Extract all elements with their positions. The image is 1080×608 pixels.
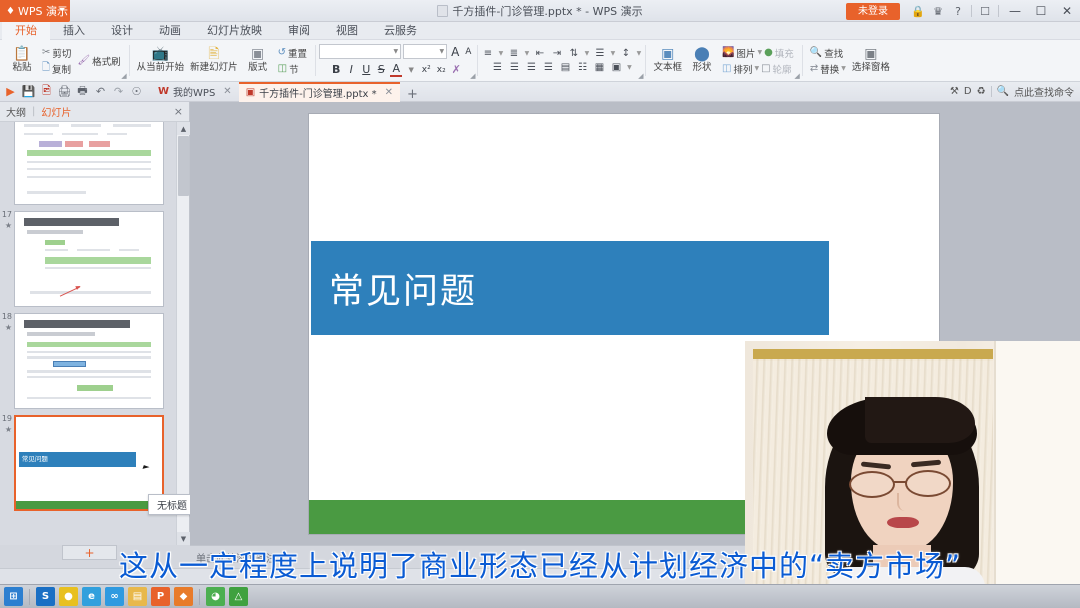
paragraph-dialog-launcher[interactable]: ◢ (638, 72, 643, 80)
chevron-down-icon[interactable]: ▼ (498, 50, 503, 57)
wps-menu-icon[interactable]: ▶ (2, 83, 19, 100)
divider (991, 86, 992, 97)
arrange-label: 排列 (733, 62, 752, 76)
tab-insert[interactable]: 插入 (50, 22, 98, 40)
person-nose (897, 493, 909, 511)
from-current-label: 从当前开始 (137, 63, 185, 74)
internet-explorer-icon[interactable]: e (82, 587, 101, 606)
font-dialog-launcher[interactable]: ◢ (470, 72, 475, 80)
doc-tab-my-wps-label: 我的WPS (173, 84, 215, 99)
copy-button[interactable]: 🗋 复制 (39, 62, 74, 76)
from-current-slide-button[interactable]: 📺 从当前开始 (134, 47, 188, 74)
bold-button[interactable]: B (330, 63, 342, 76)
shape-label: 形状 (692, 63, 711, 74)
decor (62, 133, 98, 136)
shape-button[interactable]: ⬤ 形状 (685, 47, 719, 74)
decor (27, 168, 151, 170)
group-icon[interactable]: ▣ (610, 62, 623, 73)
shrink-font-button[interactable]: A (463, 47, 473, 57)
star-icon: ★ (0, 426, 12, 434)
chevron-down-icon[interactable]: ▼ (757, 49, 762, 56)
new-tab-button[interactable]: + (400, 87, 425, 102)
star-icon: ★ (0, 222, 12, 230)
superscript-button[interactable]: x² (420, 65, 432, 75)
thumbnail-title-bar: 常见问题 (19, 452, 136, 467)
search-icon[interactable]: 🔍 (997, 86, 1009, 97)
tab-design[interactable]: 设计 (98, 22, 146, 40)
font-name-select[interactable]: ▼ (319, 44, 401, 59)
backup-icon[interactable]: ♻ (977, 86, 986, 97)
tab-view[interactable]: 视图 (323, 22, 371, 40)
scissors-icon: ✂ (42, 47, 50, 58)
thumbnail-slide-18[interactable] (14, 313, 164, 409)
paintbrush-icon: 🖌 (77, 55, 90, 66)
thumbnail-slide-16[interactable] (14, 122, 164, 205)
text-box-label: 文本框 (653, 63, 682, 74)
list-item[interactable]: 16 (0, 122, 176, 208)
scroll-up-button[interactable]: ▲ (177, 122, 190, 135)
chevron-down-icon[interactable] (59, 8, 65, 11)
touch-mode-icon[interactable]: ☉ (128, 83, 145, 100)
wps-logo-icon: ♦ (6, 6, 15, 17)
ribbon-group-clipboard: 📋 粘贴 ✂ 剪切 🗋 复制 🖌 格式刷 ◢ (0, 40, 129, 81)
person-shirt (829, 567, 985, 584)
doc-tab-active[interactable]: ▣ 千方插件-门诊管理.pptx * ✕ (239, 82, 400, 102)
ribbon-group-paragraph: ≡▼ ≣▼ ⇤ ⇥ ⇅▼ ☰▼ ↕▼ ☰ ☰ ☰ ☰ ▤ ☷ ▦ ▣ ▼ ◢ (477, 40, 645, 81)
menu-tab-list: 开始 插入 设计 动画 幻灯片放映 审阅 视图 云服务 (0, 22, 1080, 40)
close-icon[interactable]: ✕ (385, 87, 393, 98)
close-panel-icon[interactable]: × (174, 105, 183, 118)
text-box-icon: ▣ (661, 47, 674, 62)
thumbnail-scrollbar[interactable]: ▲ ▼ (176, 122, 189, 545)
distribute-icon[interactable]: ▤ (559, 62, 572, 73)
decor (27, 351, 151, 353)
file-explorer-icon[interactable]: ▤ (128, 587, 147, 606)
projector-screen-icon: 📺 (152, 47, 169, 62)
picture-label: 图片 (736, 46, 755, 60)
font-row-bottom: B I U S A ▼ x² x₂ ✗ (330, 62, 462, 77)
clear-format-icon[interactable]: ✗ (450, 63, 462, 76)
sogou-input-icon[interactable]: S (36, 587, 55, 606)
format-painter-label: 格式刷 (92, 54, 121, 68)
thumbnail-number: 18 (2, 312, 12, 321)
decor (45, 249, 69, 252)
person-fringe-side (865, 397, 975, 443)
room-wall (994, 341, 1080, 584)
italic-button[interactable]: I (345, 63, 357, 76)
paste-label: 粘贴 (12, 63, 31, 74)
underline-button[interactable]: U (360, 63, 372, 76)
restore-pane-icon[interactable]: ☐ (975, 0, 995, 22)
wps-app-badge-label: WPS 演示 (18, 3, 68, 19)
find-label: 查找 (824, 46, 843, 60)
subscript-button[interactable]: x₂ (435, 65, 447, 75)
grow-font-button[interactable]: A (449, 45, 461, 59)
fill-label: 填充 (775, 46, 794, 60)
layout-label: 版式 (248, 63, 267, 74)
list-item[interactable]: 18 ★ (0, 310, 176, 412)
thumbnail-number: 19 (2, 414, 12, 423)
ribbon-toolbar: 📋 粘贴 ✂ 剪切 🗋 复制 🖌 格式刷 ◢ 📺 从当前开始 (0, 40, 1080, 82)
tab-animation[interactable]: 动画 (146, 22, 194, 40)
glasses-bridge (894, 481, 907, 483)
d-icon[interactable]: D (964, 86, 972, 97)
thumbnail-meta: 18 ★ (0, 313, 14, 332)
thumbnail-number: 17 (2, 210, 12, 219)
slide-title-placeholder[interactable]: 常见问题 (311, 241, 829, 335)
wps-logo-icon: W (158, 86, 169, 97)
scroll-down-button[interactable]: ▼ (177, 532, 190, 545)
replace-button[interactable]: ⇄ 替换 ▼ (807, 62, 849, 76)
hat-icon[interactable]: ♛ (928, 0, 948, 22)
wps-app-badge[interactable]: ♦ WPS 演示 (0, 0, 70, 22)
ribbon-group-slides: 📺 从当前开始 🖹 新建幻灯片 ▣ 版式 ↺ 重置 ◫ 节 (129, 40, 315, 81)
clipboard-icon: 📋 (13, 47, 30, 62)
title-bar: ♦ WPS 演示 千方插件-门诊管理.pptx * - WPS 演示 未登录 🔒… (0, 0, 1080, 22)
editing-small-commands: 🔍 查找 ⇄ 替换 ▼ (807, 46, 849, 76)
divider (971, 5, 972, 17)
ppt-file-icon: ▣ (246, 87, 255, 98)
glasses-lens-right (905, 470, 951, 497)
decor (27, 376, 151, 378)
quick-access-toolbar: ▶ 💾 🖻 🖨 🖶 ↶ ↷ ☉ (0, 83, 145, 100)
align-right-icon[interactable]: ☰ (525, 62, 538, 73)
thunder-app-icon[interactable]: ● (59, 587, 78, 606)
slide-title-text: 常见问题 (311, 263, 477, 314)
selection-pane-label: 选择窗格 (852, 63, 890, 74)
thumbnail-slide-17[interactable] (14, 211, 164, 307)
new-slide-icon: 🖹 (208, 47, 219, 62)
decor (27, 342, 151, 347)
document-title-label: 千方插件-门诊管理.pptx * - WPS 演示 (452, 3, 642, 19)
align-center-icon[interactable]: ☰ (508, 62, 521, 73)
format-painter-wrap: 🖌 格式刷 (74, 54, 123, 68)
document-tab-list: W 我的WPS ✕ ▣ 千方插件-门诊管理.pptx * ✕ + (151, 82, 425, 102)
doc-tab-active-label: 千方插件-门诊管理.pptx * (259, 85, 377, 100)
chevron-down-icon: ▼ (439, 48, 444, 55)
chevron-down-icon[interactable]: ▼ (754, 65, 759, 72)
reset-label: 重置 (288, 46, 307, 60)
fill-icon: ● (764, 47, 773, 58)
undo-icon[interactable]: ↶ (92, 83, 109, 100)
divider (998, 5, 999, 17)
chevron-down-icon[interactable]: ▼ (524, 50, 529, 57)
decor (27, 150, 151, 156)
decor (27, 332, 95, 336)
layout-icon: ▣ (251, 47, 264, 62)
chevron-down-icon[interactable]: ▼ (610, 50, 615, 57)
browser-app-icon[interactable]: ◆ (174, 587, 193, 606)
divider: | (32, 106, 35, 117)
thumbnail-meta: 17 ★ (0, 211, 14, 230)
decor (71, 124, 101, 127)
command-search-input[interactable]: 点此查找命令 (1014, 84, 1074, 99)
justify-icon[interactable]: ☰ (542, 62, 555, 73)
picture-icon: 🌄 (722, 47, 734, 58)
decor (65, 141, 83, 147)
section-button[interactable]: ◫ 节 (275, 62, 310, 76)
decor (89, 141, 110, 147)
align-left-icon[interactable]: ☰ (491, 62, 504, 73)
webcam-overlay (745, 341, 1080, 584)
thumbnail-slide-19-selected[interactable]: 常见问题 (14, 415, 164, 511)
new-slide-label: 新建幻灯片 (190, 63, 238, 74)
selection-pane-button[interactable]: ▣ 选择窗格 (849, 47, 893, 74)
chevron-down-icon[interactable]: ▼ (584, 50, 589, 57)
list-item[interactable]: 17 ★ (0, 208, 176, 310)
align-text-icon[interactable]: ↕ (619, 48, 632, 59)
ribbon-group-editing: 🔍 查找 ⇄ 替换 ▼ ▣ 选择窗格 (802, 40, 898, 81)
login-button[interactable]: 未登录 (846, 3, 900, 20)
thumbnail-list[interactable]: 16 17 (0, 122, 176, 545)
scrollbar-thumb[interactable] (178, 136, 189, 196)
selection-pane-icon: ▣ (864, 47, 877, 62)
decor (45, 257, 152, 264)
bullets-icon[interactable]: ≡ (481, 48, 494, 59)
tab-start[interactable]: 开始 (2, 22, 50, 40)
maximize-button[interactable]: ☐ (1028, 0, 1054, 22)
drawing-dialog-launcher[interactable]: ◢ (794, 72, 799, 80)
tab-slideshow[interactable]: 幻灯片放映 (194, 22, 275, 40)
text-direction-icon[interactable]: ☰ (593, 48, 606, 59)
arrange-icon: ◫ (722, 63, 731, 74)
minimize-button[interactable]: — (1002, 0, 1028, 22)
layout-button[interactable]: ▣ 版式 (241, 47, 275, 74)
drawing-small-commands: 🌄 图片 ▼ ● 填充 ◫ 排列 ▼ □ 轮廓 (719, 46, 797, 76)
thumbnail-meta: 19 ★ (0, 415, 14, 434)
decrease-indent-icon[interactable]: ⇤ (533, 48, 546, 59)
reset-icon: ↺ (278, 47, 286, 58)
numbering-icon[interactable]: ≣ (507, 48, 520, 59)
decor (45, 267, 152, 270)
find-button[interactable]: 🔍 查找 (807, 46, 849, 60)
baidu-netdisk-icon[interactable]: ∞ (105, 587, 124, 606)
search-icon: 🔍 (810, 47, 822, 58)
doc-tab-my-wps[interactable]: W 我的WPS ✕ (151, 82, 239, 102)
slide-thumbnail-panel: 大纲 | 幻灯片 × 16 (0, 102, 190, 545)
text-box-button[interactable]: ▣ 文本框 (650, 47, 685, 74)
ribbon-group-drawing: ▣ 文本框 ⬤ 形状 🌄 图片 ▼ ● 填充 ◫ 排列 ▼ □ 轮廓 ◢ (645, 40, 801, 81)
tab-cloud-service[interactable]: 云服务 (371, 22, 430, 40)
copy-label: 复制 (52, 62, 71, 76)
lock-icon[interactable]: 🔒 (908, 0, 928, 22)
windows-taskbar: ⊞ S ● e ∞ ▤ P ◆ ◕ △ (0, 584, 1080, 608)
replace-icon: ⇄ (810, 63, 818, 74)
divider (199, 589, 200, 605)
paragraph-row-top: ≡▼ ≣▼ ⇤ ⇥ ⇅▼ ☰▼ ↕▼ (481, 48, 641, 59)
outline-icon: □ (761, 63, 770, 74)
quickbar-right-tools: ⚒ D ♻ 🔍 点此查找命令 (950, 84, 1080, 99)
chevron-down-icon[interactable]: ▼ (627, 64, 632, 71)
chevron-down-icon[interactable]: ▼ (405, 66, 417, 74)
glasses-lens-left (849, 471, 895, 498)
decor (27, 191, 86, 194)
picture-button[interactable]: 🌄 图片 ▼ ● 填充 (719, 46, 797, 60)
green-app-icon[interactable]: △ (229, 587, 248, 606)
replace-label: 替换 (820, 62, 839, 76)
wechat-icon[interactable]: ◕ (206, 587, 225, 606)
new-slide-button[interactable]: 🖹 新建幻灯片 (187, 47, 241, 74)
clipboard-small-commands: ✂ 剪切 🗋 复制 (39, 46, 74, 76)
decor (27, 397, 151, 399)
quick-access-and-tab-bar: ▶ 💾 🖻 🖨 🖶 ↶ ↷ ☉ W 我的WPS ✕ ▣ 千方插件-门诊管理.pp… (0, 82, 1080, 102)
cut-button[interactable]: ✂ 剪切 (39, 46, 74, 60)
chevron-down-icon[interactable]: ▼ (841, 65, 846, 72)
decor (77, 385, 113, 391)
close-button[interactable]: ✕ (1054, 0, 1080, 22)
decor (107, 133, 128, 136)
redo-icon[interactable]: ↷ (110, 83, 127, 100)
line-spacing-icon[interactable]: ⇅ (567, 48, 580, 59)
add-slide-button[interactable]: + (62, 545, 117, 560)
print-icon[interactable]: 🖨 (56, 83, 73, 100)
slides-small-commands: ↺ 重置 ◫ 节 (275, 46, 310, 76)
decor (27, 370, 151, 372)
panel-tab-outline[interactable]: 大纲 (6, 104, 26, 119)
decor (27, 230, 83, 234)
arrange-button[interactable]: ◫ 排列 ▼ □ 轮廓 (719, 62, 797, 76)
shapes-icon: ⬤ (694, 47, 710, 62)
font-size-select[interactable]: ▼ (403, 44, 447, 59)
decor (24, 320, 131, 328)
decor (24, 133, 54, 136)
divider (29, 589, 30, 605)
clipboard-dialog-launcher[interactable]: ◢ (121, 72, 126, 80)
ppt-file-icon (437, 5, 448, 17)
export-pdf-icon[interactable]: 🖻 (38, 83, 55, 100)
decor (27, 161, 151, 163)
tab-review[interactable]: 审阅 (275, 22, 323, 40)
increase-indent-icon[interactable]: ⇥ (550, 48, 563, 59)
smartart-icon[interactable]: ▦ (593, 62, 606, 73)
person-lips (887, 517, 919, 528)
menu-bar: 开始 插入 设计 动画 幻灯片放映 审阅 视图 云服务 (0, 22, 1080, 40)
chevron-down-icon[interactable]: ▼ (636, 50, 641, 57)
font-color-button[interactable]: A (390, 62, 402, 77)
decor (77, 249, 110, 252)
print-preview-icon[interactable]: 🖶 (74, 83, 91, 100)
paragraph-row-bottom: ☰ ☰ ☰ ☰ ▤ ☷ ▦ ▣ ▼ (491, 62, 632, 73)
star-icon: ★ (0, 324, 12, 332)
section-icon: ◫ (278, 63, 287, 74)
decor (113, 124, 151, 127)
strikethrough-button[interactable]: S (375, 63, 387, 76)
titlebar-right-controls: 未登录 🔒 ♛ ? ☐ — ☐ ✕ (846, 0, 1080, 22)
help-icon[interactable]: ? (948, 0, 968, 22)
section-label: 节 (289, 62, 299, 76)
decor (24, 218, 119, 226)
thumbnail-tooltip: 无标题 (148, 494, 196, 515)
close-icon[interactable]: ✕ (223, 86, 231, 97)
thumbnail-title-text: 常见问题 (19, 452, 136, 467)
decor (45, 240, 66, 245)
decor (119, 249, 140, 252)
wps-presentation-icon[interactable]: P (151, 587, 170, 606)
reset-button[interactable]: ↺ 重置 (275, 46, 310, 60)
outline-label: 轮廓 (773, 62, 792, 76)
start-button[interactable]: ⊞ (4, 587, 23, 606)
decor (39, 141, 63, 147)
decor (30, 291, 151, 294)
thumbnail-panel-header: 大纲 | 幻灯片 × (0, 102, 189, 122)
tool-icon[interactable]: ⚒ (950, 86, 959, 97)
decor (24, 124, 60, 127)
save-icon[interactable]: 💾 (20, 83, 37, 100)
panel-tab-slides[interactable]: 幻灯片 (41, 104, 71, 119)
copy-icon: 🗋 (42, 60, 50, 77)
decor (53, 361, 86, 367)
decor (27, 176, 151, 178)
thumbnail-footer-bar (16, 501, 162, 509)
columns-icon[interactable]: ☷ (576, 62, 589, 73)
chevron-down-icon: ▼ (393, 48, 398, 55)
ribbon-group-font: ▼ ▼ A A B I U S A ▼ x² x₂ ✗ ◢ (315, 40, 477, 81)
cut-label: 剪切 (52, 46, 71, 60)
paste-button[interactable]: 📋 粘贴 (5, 47, 39, 74)
format-painter-button[interactable]: 🖌 格式刷 (74, 54, 123, 68)
decor (27, 356, 151, 358)
font-row-top: ▼ ▼ A A (319, 44, 473, 59)
